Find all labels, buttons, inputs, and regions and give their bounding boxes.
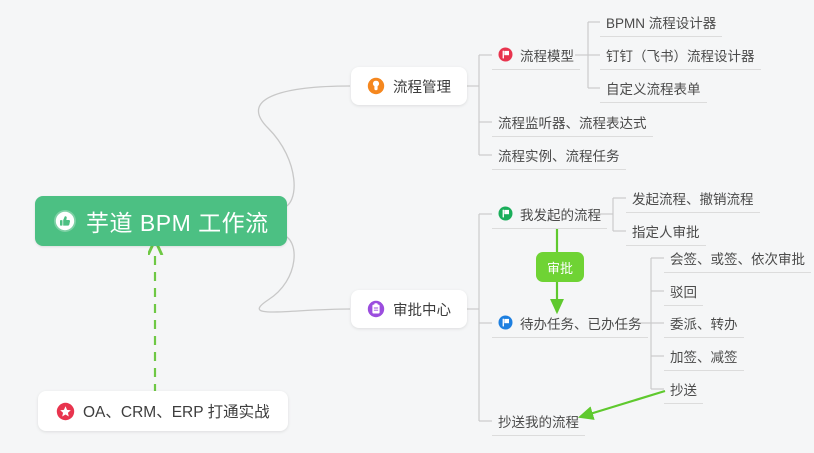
node-label: 发起流程、撤销流程 [632,188,754,208]
node-start-cancel-process[interactable]: 发起流程、撤销流程 [626,183,760,213]
node-label: 流程实例、流程任务 [498,145,620,165]
node-reject[interactable]: 驳回 [664,276,703,306]
node-label: 钉钉（飞书）流程设计器 [606,45,755,65]
node-label: 待办任务、已办任务 [520,313,642,333]
callout-integration-note[interactable]: OA、CRM、ERP 打通实战 [38,391,288,431]
node-delegate-transfer[interactable]: 委派、转办 [664,308,744,338]
callout-label: 审批 [547,258,573,277]
node-my-initiated-process[interactable]: 我发起的流程 [492,199,607,229]
node-label: 抄送 [670,379,697,399]
node-label: BPMN 流程设计器 [606,12,716,32]
node-assignee-approval[interactable]: 指定人审批 [626,216,706,246]
node-bpmn-designer[interactable]: BPMN 流程设计器 [600,7,722,37]
flag-icon [498,315,513,330]
node-dingtalk-feishu-designer[interactable]: 钉钉（飞书）流程设计器 [600,40,761,70]
node-label: 流程模型 [520,45,574,65]
node-label: 会签、或签、依次审批 [670,248,805,268]
node-label: 指定人审批 [632,221,700,241]
node-label: 加签、减签 [670,346,738,366]
node-carbon-copy[interactable]: 抄送 [664,374,703,404]
node-listener-expression[interactable]: 流程监听器、流程表达式 [492,107,653,137]
node-label: 抄送我的流程 [498,411,579,431]
node-label: 流程监听器、流程表达式 [498,112,647,132]
node-instance-task[interactable]: 流程实例、流程任务 [492,140,626,170]
node-label: 委派、转办 [670,313,738,333]
node-label: 驳回 [670,281,697,301]
node-countersign[interactable]: 会签、或签、依次审批 [664,243,811,273]
branch-label: 审批中心 [393,299,451,320]
branch-node-process-management[interactable]: 流程管理 [351,67,467,105]
callout-label: OA、CRM、ERP 打通实战 [83,400,270,422]
node-add-remove-sign[interactable]: 加签、减签 [664,341,744,371]
callout-approve-chip[interactable]: 审批 [536,252,584,282]
node-process-model[interactable]: 流程模型 [492,40,580,70]
node-label: 我发起的流程 [520,204,601,224]
root-label: 芋道 BPM 工作流 [86,204,269,238]
location-pin-icon [367,77,385,95]
branch-label: 流程管理 [393,76,451,97]
node-todo-done-tasks[interactable]: 待办任务、已办任务 [492,308,648,338]
node-label: 自定义流程表单 [606,78,701,98]
node-custom-form[interactable]: 自定义流程表单 [600,73,707,103]
flag-icon [498,47,513,62]
root-node[interactable]: 芋道 BPM 工作流 [35,196,287,246]
branch-node-approval-center[interactable]: 审批中心 [351,290,467,328]
clipboard-icon [367,300,385,318]
node-cc-to-me-process[interactable]: 抄送我的流程 [492,406,585,436]
star-badge-icon [56,402,75,421]
thumbs-up-icon [53,209,77,233]
mindmap-canvas: 芋道 BPM 工作流 流程管理 流程模型 BPMN 流程设计器 钉钉（飞书）流程… [0,0,814,453]
flag-icon [498,206,513,221]
